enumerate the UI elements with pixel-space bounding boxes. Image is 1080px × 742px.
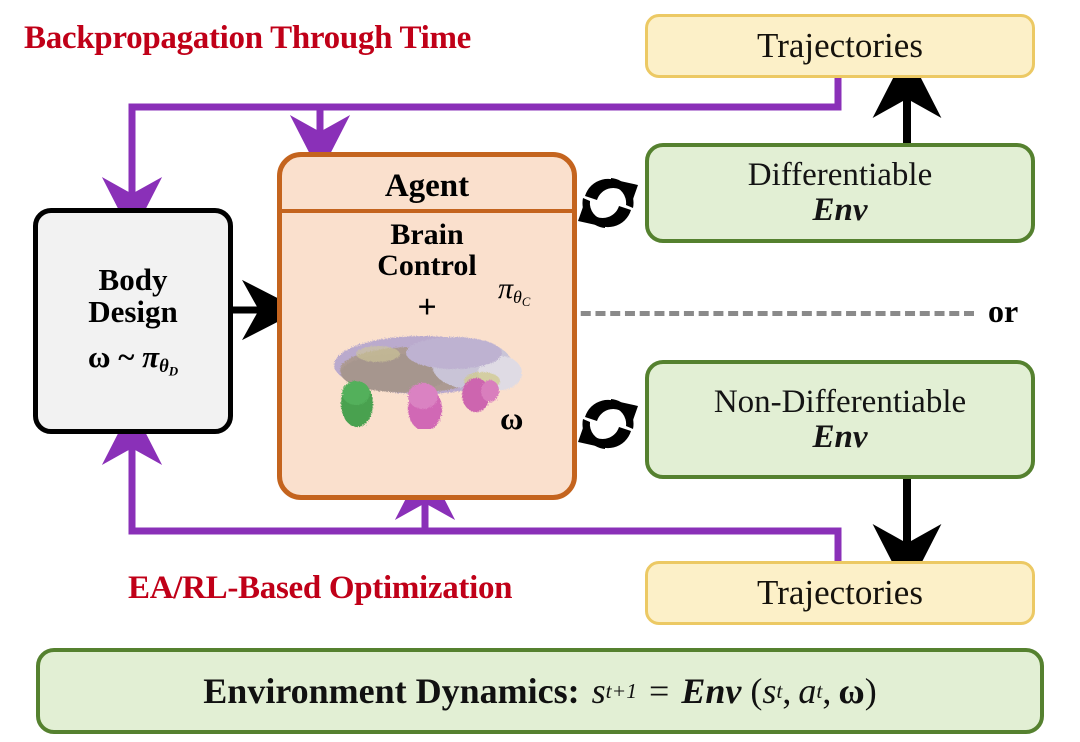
dynamics-paren-open: ( — [750, 670, 762, 712]
body-design-line1: Body — [99, 264, 168, 296]
trajectories-bottom-label: Trajectories — [757, 574, 923, 611]
dynamics-label: Environment Dynamics: — [203, 670, 579, 712]
node-environment-dynamics[interactable]: Environment Dynamics: st+1 = Env ( st , … — [36, 648, 1044, 734]
node-differentiable-env[interactable]: Differentiable Env — [645, 143, 1035, 243]
heading-ea-rl-based-optimization: EA/RL-Based Optimization — [128, 572, 512, 605]
cycle-arrows-icon-bottom — [578, 399, 638, 449]
node-non-differentiable-env[interactable]: Non-Differentiable Env — [645, 360, 1035, 479]
agent-policy-label: πθC — [498, 272, 530, 310]
body-design-theta-d: θD — [159, 356, 178, 377]
node-trajectories-bottom[interactable]: Trajectories — [645, 561, 1035, 625]
node-trajectories-top[interactable]: Trajectories — [645, 14, 1035, 78]
dynamics-lhs-sub: t+1 — [606, 679, 637, 704]
agent-omega-label: ω — [500, 400, 523, 437]
non-differentiable-env-line2: Env — [812, 420, 867, 455]
diagram-canvas: Backpropagation Through Time EA/RL-Based… — [0, 0, 1080, 742]
body-design-formula: ω ~ πθD — [88, 341, 178, 378]
dynamics-fn: Env — [681, 670, 741, 712]
or-label: or — [988, 293, 1018, 330]
differentiable-env-line2: Env — [812, 193, 867, 228]
body-design-tilde: ~ — [118, 339, 142, 374]
heading-backpropagation-through-time: Backpropagation Through Time — [24, 22, 471, 55]
body-design-pi: π — [142, 339, 159, 374]
node-agent[interactable]: Agent Brain Control + — [277, 152, 577, 500]
cycle-arrows-icon-top — [578, 178, 638, 228]
dynamics-lhs: s — [592, 670, 606, 712]
agent-body: Brain Control + — [282, 213, 572, 427]
dynamics-comma2: , — [822, 670, 831, 712]
agent-policy-pi: π — [498, 272, 513, 305]
dynamics-equals: = — [649, 670, 669, 712]
body-design-omega: ω — [88, 339, 111, 374]
agent-brain-line1: Brain — [282, 219, 572, 250]
trajectories-top-label: Trajectories — [757, 27, 923, 64]
node-body-design[interactable]: Body Design ω ~ πθD — [33, 208, 233, 434]
dynamics-arg1: s — [762, 670, 776, 712]
agent-title: Agent — [282, 157, 572, 209]
dynamics-arg2: a — [798, 670, 816, 712]
differentiable-env-line1: Differentiable — [748, 158, 932, 193]
dynamics-comma1: , — [782, 670, 791, 712]
agent-policy-theta-c: θC — [513, 287, 530, 307]
dynamics-arg3: ω — [838, 670, 864, 712]
dashed-separator — [566, 311, 974, 316]
dynamics-paren-close: ) — [865, 670, 877, 712]
non-differentiable-env-line1: Non-Differentiable — [714, 385, 966, 420]
body-design-line2: Design — [88, 296, 178, 328]
